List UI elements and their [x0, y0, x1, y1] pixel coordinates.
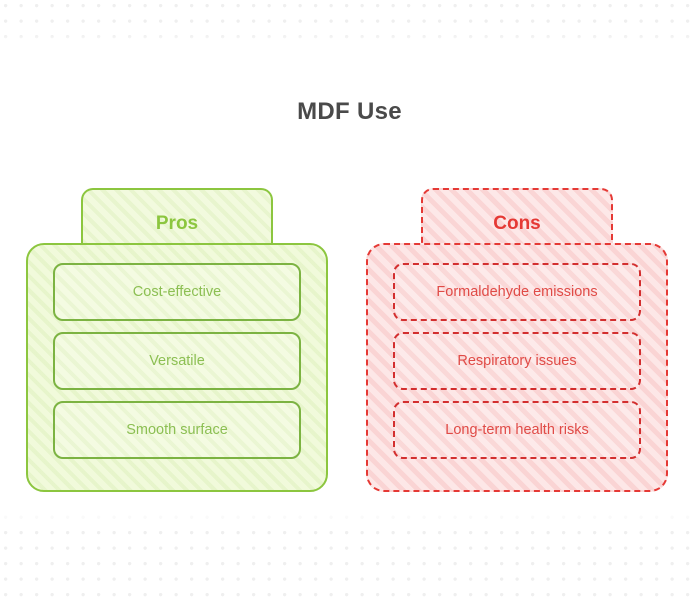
panel-body-pros: Cost-effective Versatile Smooth surface [26, 243, 328, 492]
panel-pros: Pros Cost-effective Versatile Smooth sur… [26, 188, 328, 492]
list-item[interactable]: Cost-effective [53, 263, 301, 321]
panel-body-cons: Formaldehyde emissions Respiratory issue… [366, 243, 668, 492]
list-item[interactable]: Smooth surface [53, 401, 301, 459]
panel-cons: Cons Formaldehyde emissions Respiratory … [366, 188, 668, 492]
list-item[interactable]: Versatile [53, 332, 301, 390]
list-item[interactable]: Respiratory issues [393, 332, 641, 390]
list-item[interactable]: Formaldehyde emissions [393, 263, 641, 321]
diagram-canvas: MDF Use Pros Cost-effective Versatile Sm… [0, 0, 699, 601]
list-item[interactable]: Long-term health risks [393, 401, 641, 459]
page-title: MDF Use [0, 98, 699, 126]
